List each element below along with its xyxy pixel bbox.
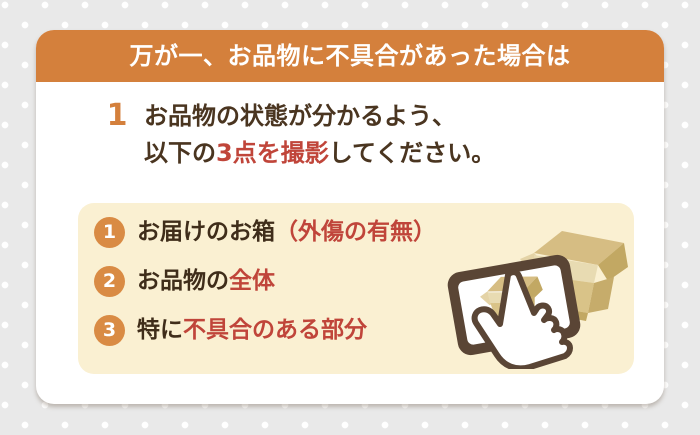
list-badge-3: 3 — [94, 315, 125, 346]
step-one-block: 1 お品物の状態が分かるよう、 以下の3点を撮影してください。 — [36, 82, 664, 172]
step-line-2-suffix: してください。 — [329, 139, 496, 167]
list-item-2-prefix: お品物の — [137, 268, 229, 294]
header-title: 万が一、お品物に不具合があった場合は — [130, 44, 571, 68]
list-item-1-label: お届けのお箱（外傷の有無） — [137, 221, 436, 244]
step-line-2-accent: 3点を撮影 — [216, 139, 329, 167]
hand-pointing-at-tablet-photographing-box-icon — [438, 209, 628, 369]
list-item: 1 お届けのお箱（外傷の有無） — [94, 212, 436, 252]
list-item: 3 特に不具合のある部分 — [94, 310, 367, 350]
list-item-2-accent: 全体 — [229, 268, 275, 294]
list-item-1-accent: （外傷の有無） — [275, 219, 436, 245]
list-item-1-prefix: お届けのお箱 — [137, 219, 275, 245]
list-badge-2: 2 — [94, 266, 125, 297]
step-number: 1 — [94, 98, 140, 134]
list-item: 2 お品物の全体 — [94, 261, 275, 301]
step-text: お品物の状態が分かるよう、 以下の3点を撮影してください。 — [144, 98, 495, 172]
photo-checklist-panel: 1 お届けのお箱（外傷の有無） 2 お品物の全体 3 特に不具合のある部分 — [78, 203, 634, 374]
list-item-3-prefix: 特に — [137, 317, 183, 343]
info-card: 万が一、お品物に不具合があった場合は 1 お品物の状態が分かるよう、 以下の3点… — [36, 30, 664, 404]
card-header: 万が一、お品物に不具合があった場合は — [36, 30, 664, 82]
list-item-2-label: お品物の全体 — [137, 270, 275, 293]
step-line-2: 以下の3点を撮影してください。 — [144, 135, 495, 172]
list-item-3-accent: 不具合のある部分 — [183, 317, 367, 343]
step-line-2-prefix: 以下の — [144, 139, 216, 167]
list-item-3-label: 特に不具合のある部分 — [137, 319, 367, 342]
step-line-1: お品物の状態が分かるよう、 — [144, 98, 495, 135]
list-badge-1: 1 — [94, 217, 125, 248]
